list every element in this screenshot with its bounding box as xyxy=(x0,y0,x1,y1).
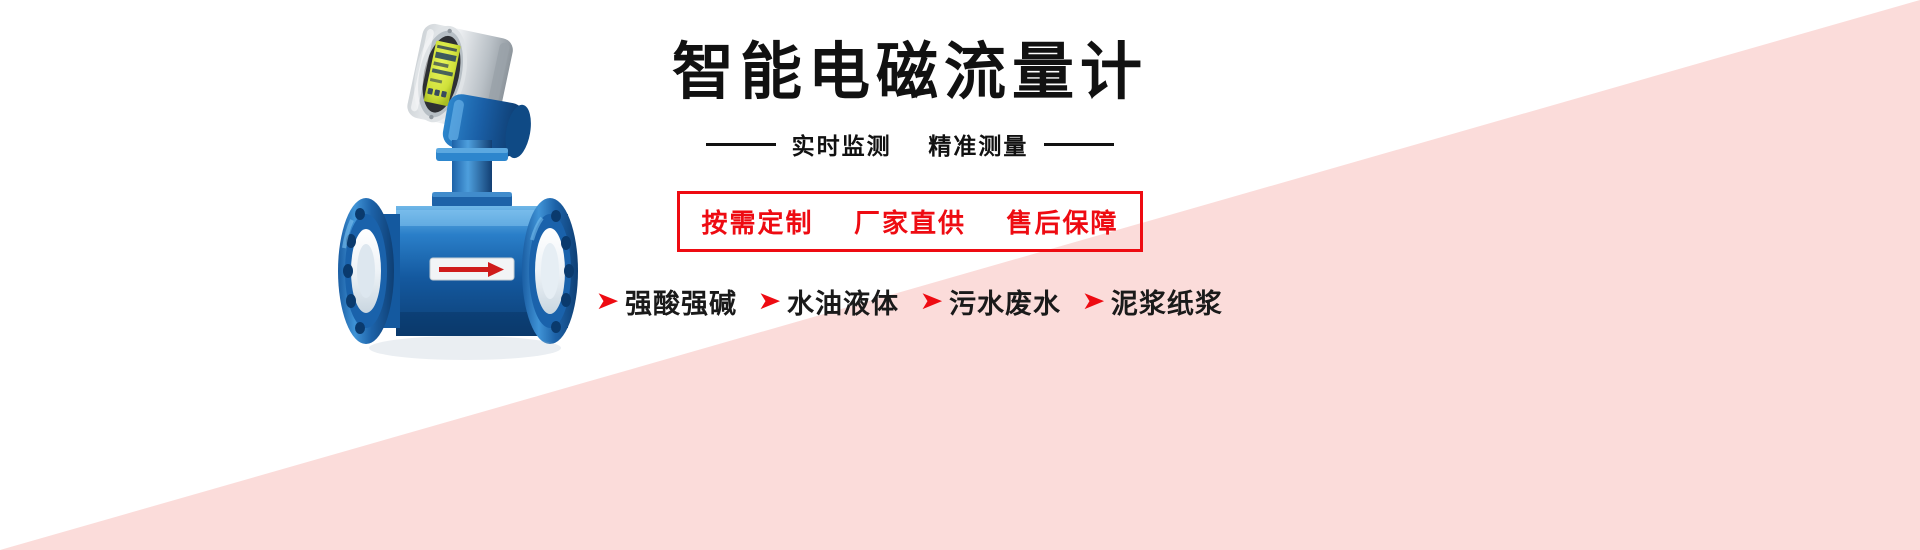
feature-label: 污水废水 xyxy=(949,282,1061,321)
feature-item: ➤ 泥浆纸浆 xyxy=(1083,282,1223,321)
promo-item-1: 按需定制 xyxy=(702,208,814,238)
subtitle: 实时监测 精准测量 xyxy=(792,127,1029,161)
page-title: 智能电磁流量计 xyxy=(600,40,1220,105)
arrow-right-icon: ➤ xyxy=(919,289,943,314)
promo-item-3: 售后保障 xyxy=(1006,208,1118,238)
feature-label: 强酸强碱 xyxy=(625,282,737,321)
arrow-right-icon: ➤ xyxy=(596,289,620,314)
banner-text-block: 智能电磁流量计 实时监测 精准测量 按需定制 厂家直供 售后保障 ➤ 强酸强碱 xyxy=(600,40,1220,360)
feature-label: 水油液体 xyxy=(787,282,899,321)
feature-item: ➤ 污水废水 xyxy=(921,282,1061,321)
feature-label: 泥浆纸浆 xyxy=(1111,282,1223,321)
subtitle-right: 精准测量 xyxy=(928,133,1028,159)
product-image-flowmeter xyxy=(300,0,630,420)
feature-item: ➤ 强酸强碱 xyxy=(597,282,737,321)
subtitle-row: 实时监测 精准测量 xyxy=(600,127,1220,161)
feature-item: ➤ 水油液体 xyxy=(759,282,899,321)
promo-text: 按需定制 厂家直供 售后保障 xyxy=(702,208,1119,238)
promo-box: 按需定制 厂家直供 售后保障 xyxy=(677,191,1144,252)
subtitle-left: 实时监测 xyxy=(792,133,892,159)
rule-right xyxy=(1044,143,1114,146)
rule-left xyxy=(706,143,776,146)
arrow-right-icon: ➤ xyxy=(1081,289,1105,314)
product-banner: 智能电磁流量计 实时监测 精准测量 按需定制 厂家直供 售后保障 ➤ 强酸强碱 xyxy=(0,0,1920,550)
feature-list: ➤ 强酸强碱 ➤ 水油液体 ➤ 污水废水 ➤ 泥浆纸浆 xyxy=(600,282,1220,321)
promo-item-2: 厂家直供 xyxy=(854,208,966,238)
arrow-right-icon: ➤ xyxy=(757,289,781,314)
